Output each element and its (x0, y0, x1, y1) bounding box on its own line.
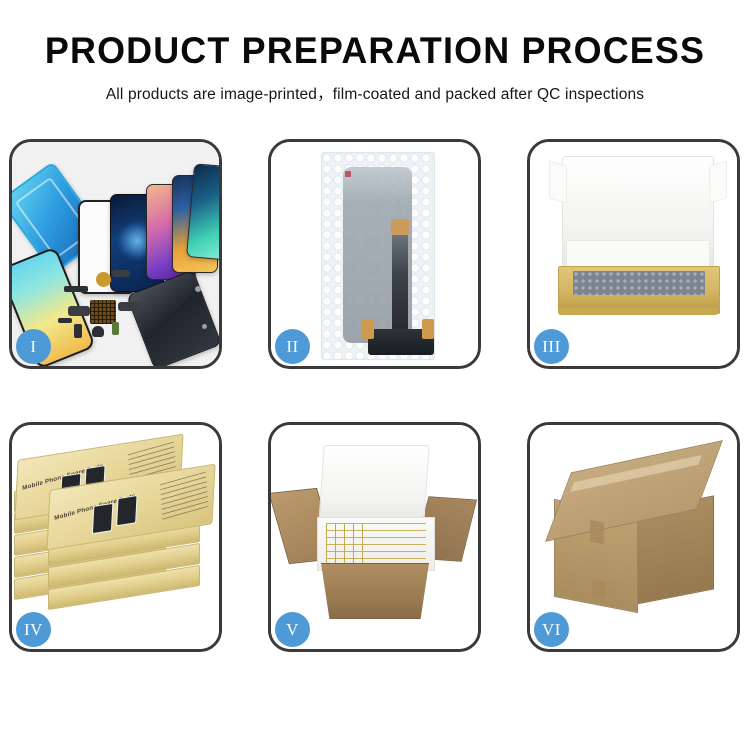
carton-tab-upper (590, 520, 604, 545)
page-title: PRODUCT PREPARATION PROCESS (11, 30, 739, 71)
sensor-strip-part (64, 286, 88, 292)
process-step-2: II (268, 139, 481, 369)
battery-part (112, 322, 119, 335)
infographic-page: PRODUCT PREPARATION PROCESS All products… (0, 0, 750, 750)
display-flex-cable (392, 233, 408, 341)
foam-box-base (317, 517, 435, 571)
screw-part-2 (202, 324, 207, 329)
camera-part (92, 326, 104, 337)
step-badge-6: VI (534, 612, 569, 647)
box-thumbnail-1 (92, 503, 113, 534)
ic-chip-part (90, 300, 116, 324)
process-step-5: V (268, 422, 481, 652)
page-header: PRODUCT PREPARATION PROCESS All products… (0, 0, 750, 104)
process-step-3: III (527, 139, 740, 369)
box-spec-lines (160, 471, 208, 519)
small-flex-part (112, 270, 130, 277)
bubble-wrap (321, 152, 435, 360)
page-subtitle: All products are image-printed，film-coat… (0, 82, 750, 104)
gold-contact-left (362, 319, 374, 339)
packed-product (573, 271, 705, 295)
speaker-part (96, 272, 111, 287)
step-badge-4: IV (16, 612, 51, 647)
carton-body (315, 563, 435, 619)
step-badge-5: V (275, 612, 310, 647)
step-badge-2: II (275, 329, 310, 364)
gold-contact-right (422, 319, 434, 339)
flex-cable-part (68, 306, 90, 316)
process-step-6: VI (527, 422, 740, 652)
sim-tray-part (74, 324, 82, 338)
antenna-part (58, 318, 72, 323)
step-badge-1: I (16, 329, 51, 364)
carton-tab-lower (592, 580, 606, 599)
foam-box-lid (318, 445, 430, 525)
box-thumbnail-2 (116, 495, 137, 526)
yellow-boxes-inside (326, 523, 426, 563)
process-step-1: I (9, 139, 222, 369)
process-step-grid: I II (9, 139, 741, 682)
kraft-box-tray (558, 266, 720, 314)
button-flex-part (118, 302, 140, 311)
process-step-4: Mobile Phone Spare Parts Mobile Phone Sp… (9, 422, 222, 652)
screw-part (195, 286, 201, 292)
step-badge-3: III (534, 329, 569, 364)
box-front-lip (558, 308, 718, 315)
